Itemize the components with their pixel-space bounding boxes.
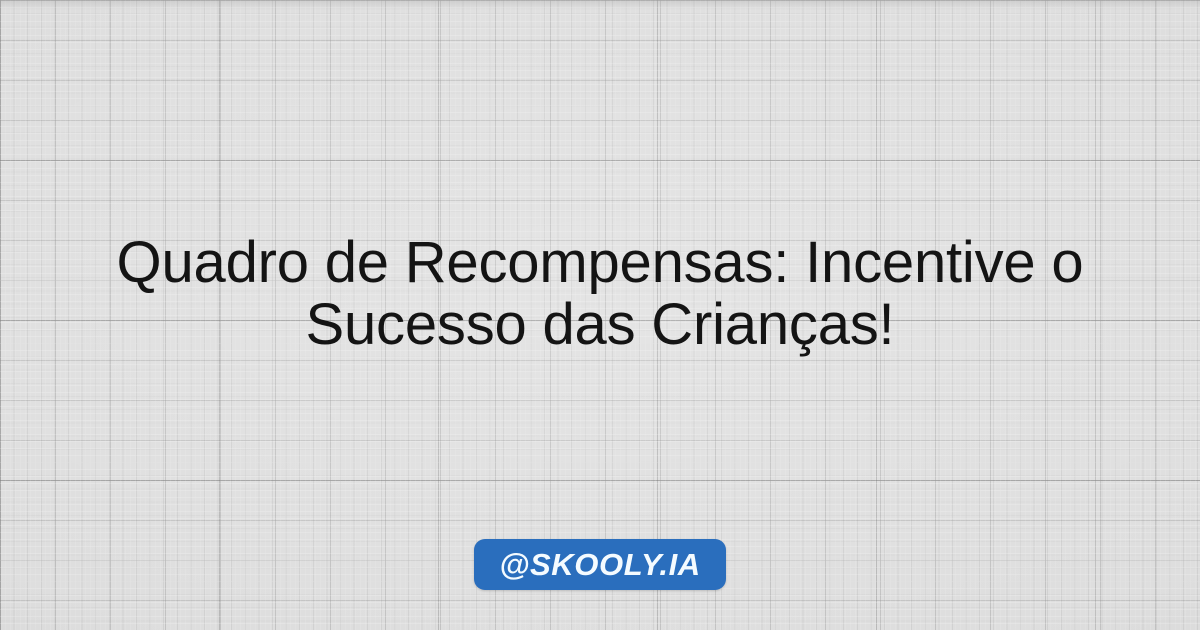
social-share-card: Quadro de Recompensas: Incentive o Suces… <box>0 0 1200 630</box>
headline-container: Quadro de Recompensas: Incentive o Suces… <box>20 232 1180 356</box>
handle-badge[interactable]: @SKOOLY.IA <box>474 539 726 590</box>
handle-badge-label: @SKOOLY.IA <box>499 549 701 580</box>
page-title: Quadro de Recompensas: Incentive o Suces… <box>20 232 1180 356</box>
handle-badge-row: @SKOOLY.IA <box>0 539 1200 590</box>
